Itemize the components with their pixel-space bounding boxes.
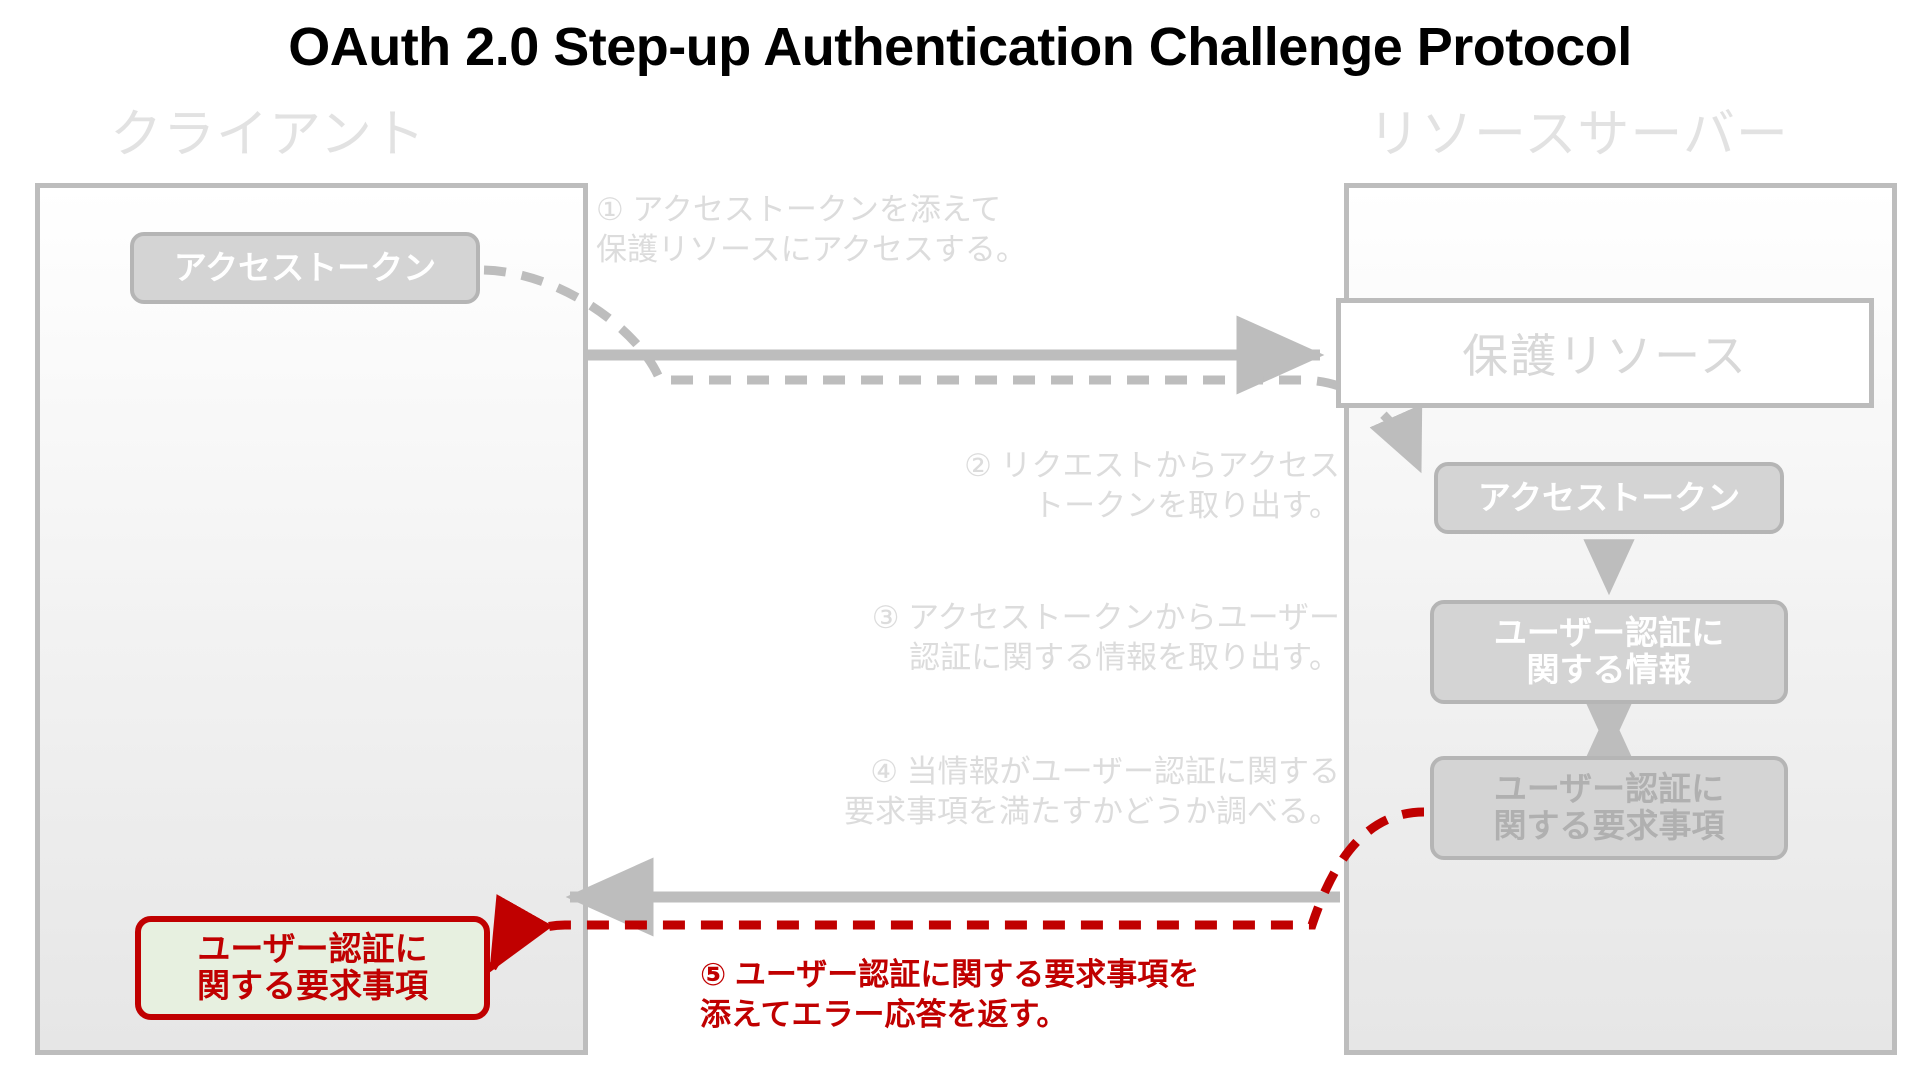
error-response-path xyxy=(492,812,1424,968)
step-1-caption: ① アクセストークンを添えて 保護リソースにアクセスする。 xyxy=(596,190,1156,269)
client-access-token-box: アクセストークン xyxy=(130,232,480,304)
client-auth-requirements-box: ユーザー認証に 関する要求事項 xyxy=(135,916,490,1020)
protected-resource-box: 保護リソース xyxy=(1336,298,1874,408)
step-2-caption: ② リクエストからアクセス トークンを取り出す。 xyxy=(600,446,1340,525)
actor-label-server: リソースサーバー xyxy=(1368,92,1789,167)
step-4-caption: ④ 当情報がユーザー認証に関する 要求事項を満たすかどうか調べる。 xyxy=(600,752,1340,831)
server-access-token-box: アクセストークン xyxy=(1434,462,1784,534)
diagram-canvas: OAuth 2.0 Step-up Authentication Challen… xyxy=(0,0,1920,1080)
step-5-caption: ⑤ ユーザー認証に関する要求事項を 添えてエラー応答を返す。 xyxy=(700,955,1320,1034)
actor-label-client: クライアント xyxy=(110,92,426,167)
token-flow-path xyxy=(484,270,1420,470)
server-auth-info-box: ユーザー認証に 関する情報 xyxy=(1430,600,1788,704)
step-3-caption: ③ アクセストークンからユーザー 認証に関する情報を取り出す。 xyxy=(600,598,1340,677)
server-auth-requirements-box: ユーザー認証に 関する要求事項 xyxy=(1430,756,1788,860)
page-title: OAuth 2.0 Step-up Authentication Challen… xyxy=(0,16,1920,78)
